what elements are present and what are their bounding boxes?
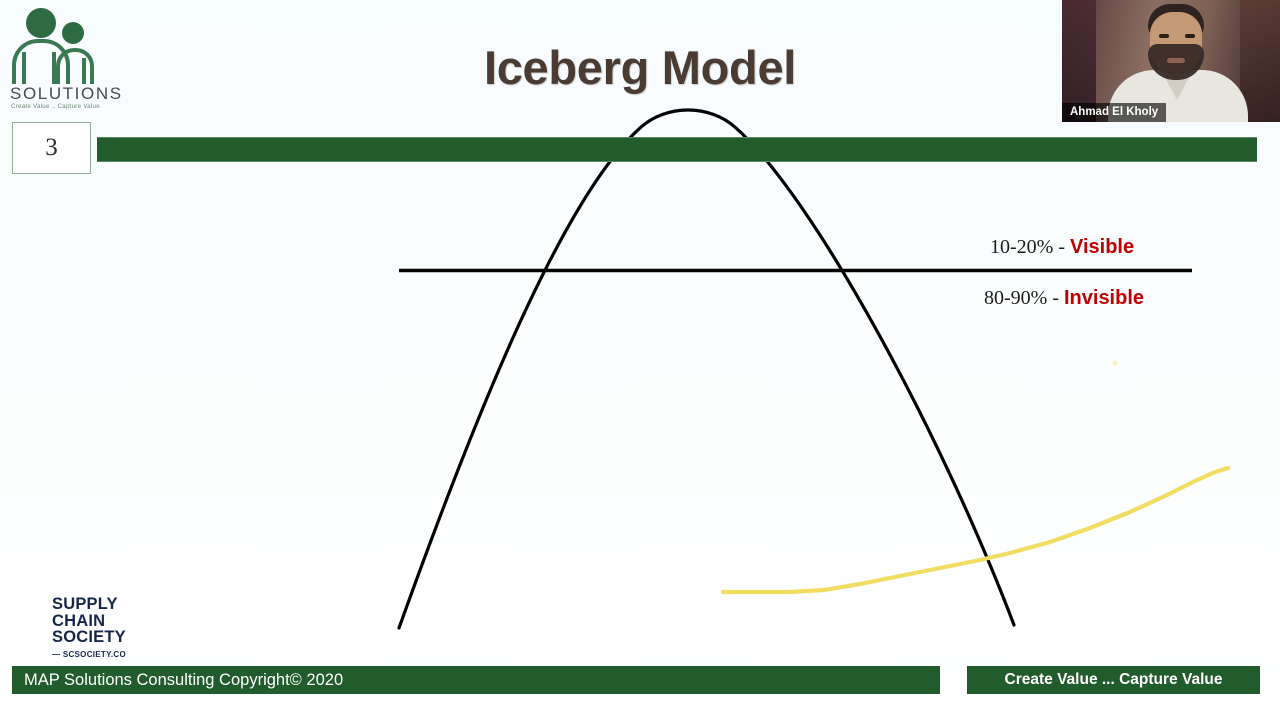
- annotation-dot: [1112, 360, 1117, 365]
- slide-number: 3: [45, 134, 58, 162]
- visible-percentage-label: 10-20% - Visible: [990, 236, 1134, 259]
- presentation-slide: SOLUTIONS Create Value .. Capture Value …: [0, 0, 1280, 720]
- footer-copyright-bar: MAP Solutions Consulting Copyright© 2020: [12, 666, 940, 694]
- visible-percentage-value: 10-20% -: [990, 236, 1070, 258]
- webcam-eye-right: [1185, 34, 1195, 38]
- footer-copyright-text: MAP Solutions Consulting Copyright© 2020: [24, 671, 343, 690]
- invisible-percentage-value: 80-90% -: [984, 287, 1064, 309]
- webcam-eye-left: [1159, 34, 1169, 38]
- invisible-percentage-label: 80-90% - Invisible: [984, 287, 1144, 310]
- slide-number-box: 3: [12, 122, 91, 174]
- participant-name-label: Ahmad El Kholy: [1062, 103, 1166, 122]
- scs-line-3: SOCIETY: [52, 629, 182, 646]
- scs-line-2: CHAIN: [52, 613, 182, 630]
- header-accent-bar: [97, 137, 1257, 162]
- invisible-emphasis: Invisible: [1064, 287, 1144, 309]
- webcam-mouth: [1167, 58, 1185, 63]
- footer-slogan-text: Create Value ... Capture Value: [1005, 671, 1223, 689]
- webcam-video-tile[interactable]: Ahmad El Kholy: [1062, 0, 1280, 122]
- scs-line-1: SUPPLY: [52, 596, 182, 613]
- supply-chain-society-logo: SUPPLY CHAIN SOCIETY — SCSOCIETY.CO: [52, 596, 182, 659]
- footer-slogan-bar: Create Value ... Capture Value: [967, 666, 1260, 694]
- scs-url: — SCSOCIETY.CO: [52, 650, 182, 659]
- iceberg-outline: [399, 110, 1014, 628]
- visible-emphasis: Visible: [1070, 236, 1134, 258]
